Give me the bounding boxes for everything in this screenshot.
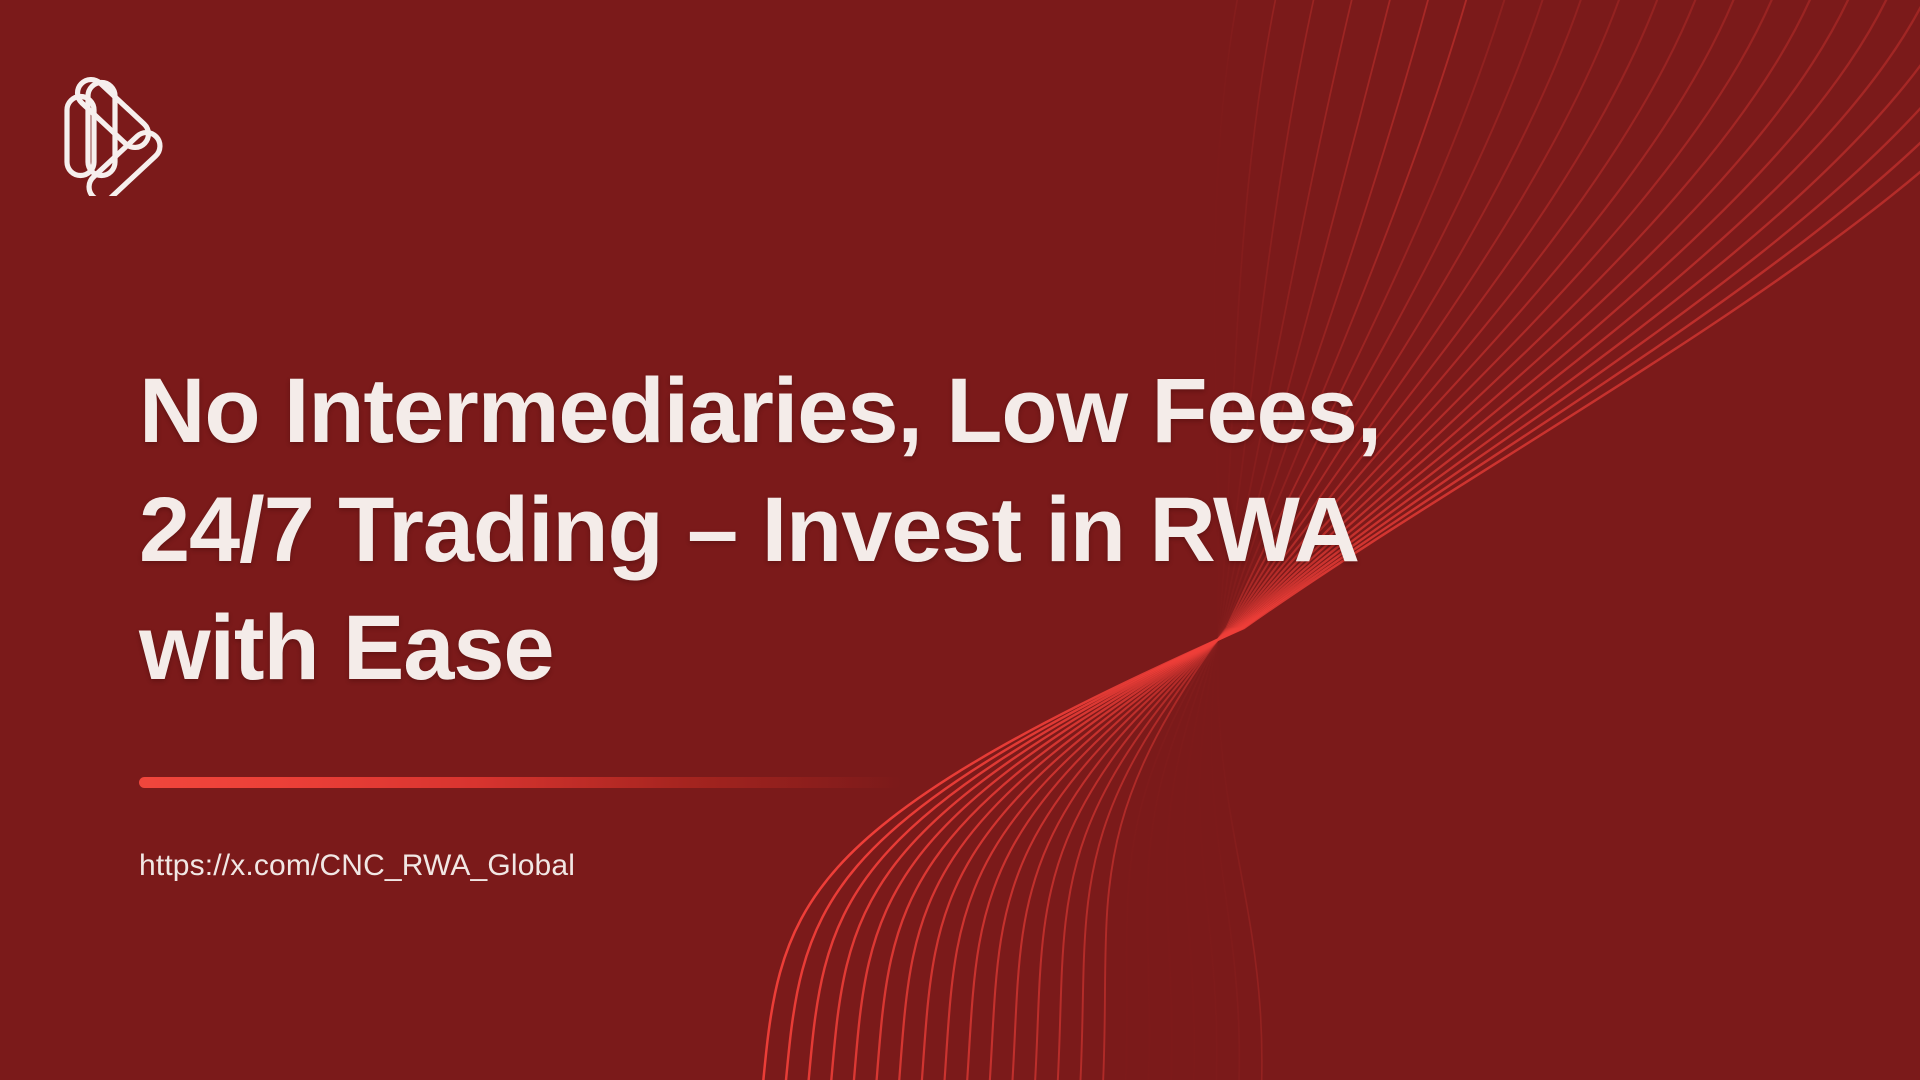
page-title: No Intermediaries, Low Fees, 24/7 Tradin… (139, 352, 1439, 708)
brand-logo[interactable] (54, 56, 186, 196)
headline-line-3: with Ease (139, 589, 1439, 708)
content-block: No Intermediaries, Low Fees, 24/7 Tradin… (139, 352, 1439, 883)
promo-card: No Intermediaries, Low Fees, 24/7 Tradin… (0, 0, 1920, 1080)
headline-line-1: No Intermediaries, Low Fees, (139, 352, 1439, 471)
profile-url-link[interactable]: https://x.com/CNC_RWA_Global (139, 849, 1439, 883)
logo-capsules (67, 74, 166, 196)
accent-divider (139, 777, 901, 788)
headline-line-2: 24/7 Trading – Invest in RWA (139, 471, 1439, 590)
